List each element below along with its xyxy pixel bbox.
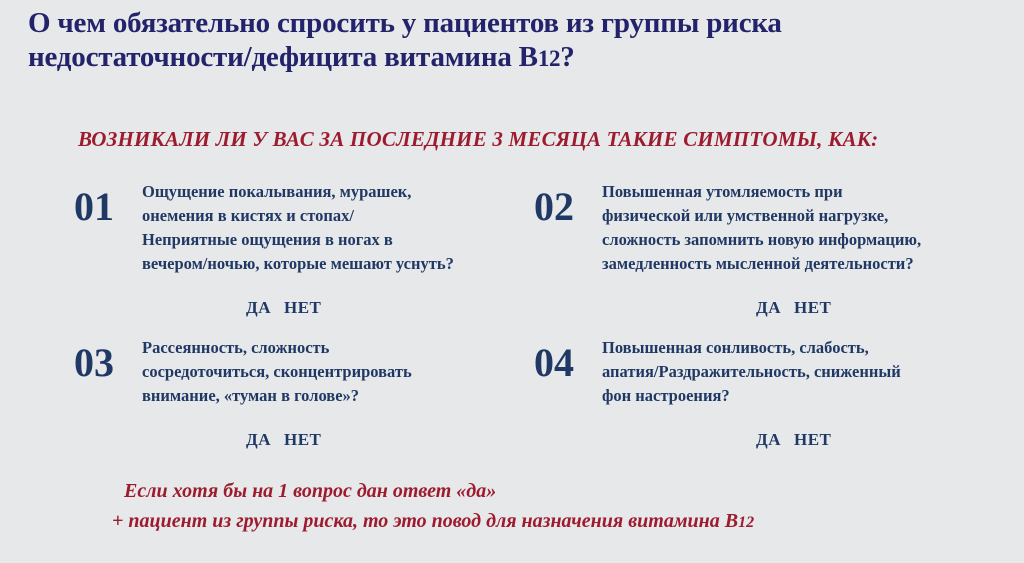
answer-options-03: ДАНЕТ [74, 430, 520, 450]
question-04-head: 04 Повышенная сонливость, слабость, апат… [534, 334, 1024, 408]
answer-options-04: ДАНЕТ [534, 430, 1024, 450]
question-row-1: 01 Ощущение покалывания, мурашек, онемен… [0, 178, 1024, 318]
question-card-01: 01 Ощущение покалывания, мурашек, онемен… [0, 178, 520, 318]
answer-no-03[interactable]: НЕТ [284, 430, 321, 450]
question-grid: 01 Ощущение покалывания, мурашек, онемен… [0, 178, 1024, 450]
answer-options-01: ДАНЕТ [74, 298, 520, 318]
answer-yes-03[interactable]: ДА [246, 430, 271, 450]
title-line-1: О чем обязательно спросить у пациентов и… [28, 6, 988, 40]
question-text-03: Рассеянность, сложность сосредоточиться,… [142, 334, 520, 408]
question-01-line-3: Неприятные ощущения в ногах в [142, 228, 520, 252]
subtitle-prompt: ВОЗНИКАЛИ ЛИ У ВАС ЗА ПОСЛЕДНИЕ 3 МЕСЯЦА… [78, 126, 878, 152]
question-03-line-3: внимание, «туман в голове»? [142, 384, 520, 408]
question-number-04: 04 [534, 334, 602, 384]
footer-line-1: Если хотя бы на 1 вопрос дан ответ «да» [124, 476, 754, 506]
title-line-2-main: недостаточности/дефицита витамина В [28, 41, 538, 73]
title-question-mark: ? [560, 41, 574, 73]
question-row-2: 03 Рассеянность, сложность сосредоточить… [0, 334, 1024, 450]
footer-b12-subscript: 12 [738, 514, 754, 531]
title-line-2: недостаточности/дефицита витамина В12? [28, 40, 988, 76]
footer-line-2: + пациент из группы риска, то это повод … [112, 506, 754, 538]
page-title: О чем обязательно спросить у пациентов и… [28, 6, 988, 76]
footer-line-2-main: + пациент из группы риска, то это повод … [112, 510, 738, 532]
question-02-line-1: Повышенная утомляемость при [602, 180, 1024, 204]
answer-yes-01[interactable]: ДА [246, 298, 271, 318]
answer-yes-04[interactable]: ДА [756, 430, 781, 450]
question-02-line-2: физической или умственной нагрузке, [602, 204, 1024, 228]
answer-yes-02[interactable]: ДА [756, 298, 781, 318]
question-card-04: 04 Повышенная сонливость, слабость, апат… [520, 334, 1024, 450]
question-number-01: 01 [74, 178, 142, 228]
question-01-line-1: Ощущение покалывания, мурашек, [142, 180, 520, 204]
question-02-line-3: сложность запомнить новую информацию, [602, 228, 1024, 252]
question-text-01: Ощущение покалывания, мурашек, онемения … [142, 178, 520, 276]
slide-root: О чем обязательно спросить у пациентов и… [0, 0, 1024, 563]
question-01-line-4: вечером/ночью, которые мешают уснуть? [142, 252, 520, 276]
footer-conclusion: Если хотя бы на 1 вопрос дан ответ «да» … [124, 476, 754, 538]
question-card-03: 03 Рассеянность, сложность сосредоточить… [0, 334, 520, 450]
question-02-line-4: замедленность мысленной деятельности? [602, 252, 1024, 276]
question-text-04: Повышенная сонливость, слабость, апатия/… [602, 334, 1024, 408]
answer-no-01[interactable]: НЕТ [284, 298, 321, 318]
answer-options-02: ДАНЕТ [534, 298, 1024, 318]
answer-no-04[interactable]: НЕТ [794, 430, 831, 450]
question-04-line-3: фон настроения? [602, 384, 1024, 408]
question-number-02: 02 [534, 178, 602, 228]
question-03-line-2: сосредоточиться, сконцентрировать [142, 360, 520, 384]
question-card-02: 02 Повышенная утомляемость при физическо… [520, 178, 1024, 318]
question-03-head: 03 Рассеянность, сложность сосредоточить… [74, 334, 520, 408]
question-text-02: Повышенная утомляемость при физической и… [602, 178, 1024, 276]
title-b12-subscript: 12 [538, 46, 560, 71]
question-04-line-2: апатия/Раздражительность, сниженный [602, 360, 1024, 384]
answer-no-02[interactable]: НЕТ [794, 298, 831, 318]
question-03-line-1: Рассеянность, сложность [142, 336, 520, 360]
question-04-line-1: Повышенная сонливость, слабость, [602, 336, 1024, 360]
question-number-03: 03 [74, 334, 142, 384]
question-01-head: 01 Ощущение покалывания, мурашек, онемен… [74, 178, 520, 276]
question-01-line-2: онемения в кистях и стопах/ [142, 204, 520, 228]
question-02-head: 02 Повышенная утомляемость при физическо… [534, 178, 1024, 276]
